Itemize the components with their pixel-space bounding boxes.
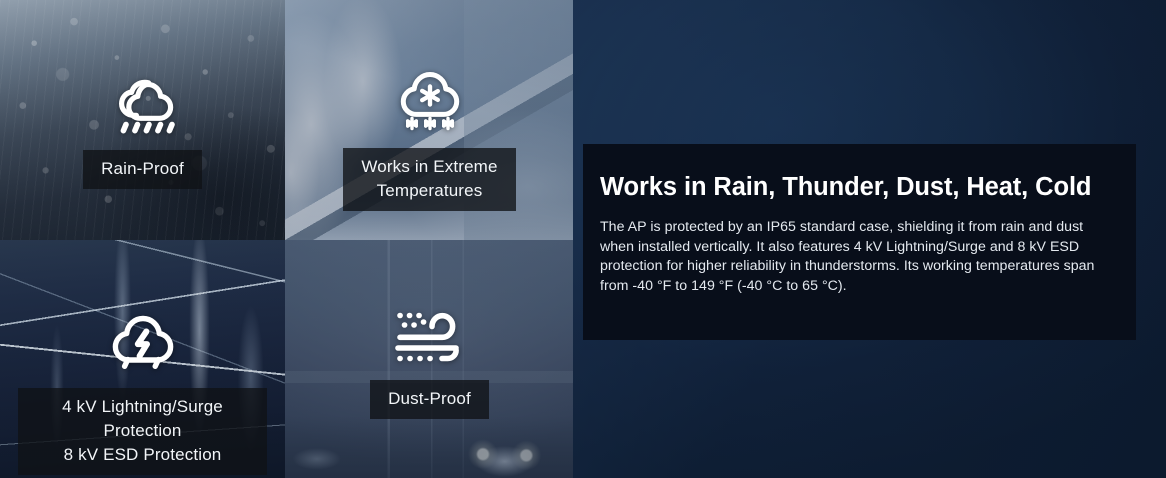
tile-caption-rain: Rain-Proof [83,150,202,189]
tile-content-temperature: Works in Extreme Temperatures [285,66,574,211]
feature-text-card: Works in Rain, Thunder, Dust, Heat, Cold… [583,144,1136,340]
thunder-cloud-icon [103,312,183,374]
mosaic-tile-temperature: Works in Extreme Temperatures [285,0,574,240]
tile-caption-lightning: 4 kV Lightning/Surge Protection 8 kV ESD… [18,388,267,475]
tile-caption-temperature: Works in Extreme Temperatures [343,148,515,211]
feature-banner: Rain-Proof [0,0,1166,478]
mosaic-tile-dust: Dust-Proof [285,240,574,478]
card-body: The AP is protected by an IP65 standard … [600,218,1102,296]
card-title: Works in Rain, Thunder, Dust, Heat, Cold [600,172,1102,202]
mosaic-tile-lightning: 4 kV Lightning/Surge Protection 8 kV ESD… [0,240,285,478]
mosaic-tile-rain: Rain-Proof [0,0,285,240]
rain-cloud-icon [102,72,184,138]
image-mosaic: Rain-Proof [0,0,574,478]
tile-caption-dust: Dust-Proof [370,380,489,419]
snow-cloud-icon [390,66,470,138]
tile-content-dust: Dust-Proof [285,306,574,419]
wind-dust-icon [386,306,474,364]
tile-content-rain: Rain-Proof [0,72,285,189]
tile-content-lightning: 4 kV Lightning/Surge Protection 8 kV ESD… [0,312,285,475]
